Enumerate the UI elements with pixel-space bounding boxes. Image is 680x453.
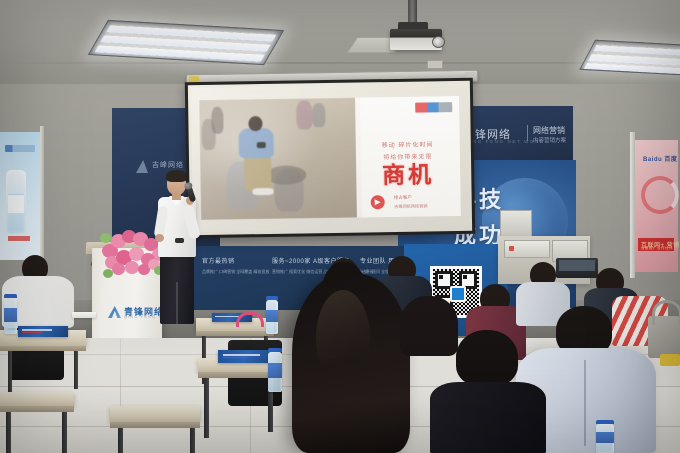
desk: [110, 406, 200, 422]
rollup-right-cta-sub: 百度推广合作伙伴: [641, 246, 673, 251]
water-bottle: [266, 300, 278, 334]
yellow-object: [660, 354, 680, 366]
hair-highlight: [316, 290, 370, 386]
presentation-slide: 移动 碎片化时间 将给你带来无限 商机 抢占客户 吉峰网络网络营销: [199, 96, 460, 220]
headphones-icon: [236, 312, 264, 327]
power-led-icon: [509, 246, 514, 251]
bottle-label: [4, 308, 17, 322]
handbag-strap: [652, 300, 680, 325]
projection-screen: 移动 碎片化时间 将给你带来无限 商机 抢占客户 吉峰网络网络营销: [185, 78, 475, 239]
bottle-cap: [268, 348, 282, 352]
rollup-banner-right: Baidu 百度 互联网+ 营销 百度推广合作伙伴: [634, 140, 678, 272]
slide-logo-icon: [415, 102, 452, 112]
smartphone-icon: [256, 142, 266, 148]
bottle-cap: [4, 294, 17, 298]
folder-accent: [22, 332, 41, 333]
slide-subtitle-line-2: 将给你带来无限: [364, 151, 451, 161]
bottle-label: [596, 432, 614, 443]
rollup-left-header-logo: [5, 145, 35, 152]
desk-leg: [118, 428, 123, 453]
slide-pedestrian: [296, 101, 313, 130]
slide-arrow-icon: [371, 196, 385, 210]
presenter-leg-gap: [176, 282, 178, 324]
handout-paper: [72, 312, 96, 318]
laptop-screen: [559, 260, 595, 271]
desk-leg: [190, 428, 195, 453]
brand-mark-icon: [136, 160, 148, 173]
banner-tagline-secondary: 内容营销方案: [533, 136, 566, 144]
folder-accent: [223, 357, 247, 358]
slide-subtitle-line-1: 移动 碎片化时间: [364, 139, 451, 149]
presenter-left-hand: [155, 234, 164, 242]
slide-cta-primary: 抢占客户: [394, 195, 412, 201]
slide-cta-secondary: 吉峰网络网络营销: [394, 203, 428, 210]
seminar-room-photo: 吉峰网络 营销设计 青锋网络 QING FENG NET WORK 网络营销 内…: [0, 0, 680, 453]
baidu-logo-icon: Baidu 百度: [643, 154, 677, 163]
presentation-clicker-icon: [175, 238, 184, 243]
desk-leg: [74, 351, 78, 389]
shirt-seam: [584, 360, 586, 446]
banner-col-a-heading: 官方最热销: [202, 256, 269, 265]
ring-graphic-icon: [641, 176, 679, 214]
desk-edge: [110, 422, 200, 428]
foreground-person-shoulders: [430, 382, 546, 453]
monitor-icon: [500, 210, 532, 238]
foreground-person-dark: [400, 296, 458, 356]
banner-column-a: 官方最热销 品牌推广 口碑营销 全网覆盖 精准投放: [202, 256, 269, 275]
bottle-cap: [266, 296, 278, 300]
desk: [0, 392, 74, 406]
water-bottle: [596, 424, 614, 453]
rollup-left-pole: [40, 126, 44, 266]
rollup-left-accent-bar: [8, 236, 30, 241]
slide-photo-street-scene: [199, 98, 362, 221]
slide-pedestrian: [201, 119, 216, 150]
training-folder: [18, 326, 68, 337]
banner-col-a-lines: 品牌推广 口碑营销 全网覆盖 精准投放: [202, 269, 269, 275]
water-bottle: [268, 352, 282, 392]
audio-mixer-icon: [504, 240, 550, 258]
rollup-right-pole: [630, 132, 635, 278]
desk-edge: [196, 331, 274, 336]
slide-main-figure-shoes: [252, 188, 273, 196]
ceiling-vent: [427, 60, 443, 69]
desk-leg: [62, 412, 67, 453]
presenter-hair: [166, 170, 187, 182]
banner-divider: [527, 125, 528, 141]
projection-screen-surface: 移动 碎片化时间 将给你带来无限 商机 抢占客户 吉峰网络网络营销: [188, 81, 472, 235]
desk-leg: [6, 412, 11, 453]
laptop-icon: [556, 258, 598, 278]
foreground-person-head: [456, 330, 518, 386]
folder-band: [22, 329, 52, 331]
banner-col-b-heading: 服务~2000家 A级客户服务: [272, 256, 374, 265]
qr-center-logo: [450, 286, 466, 302]
folder-band: [223, 354, 260, 356]
rollup-right-cta-bar: 互联网+ 营销 百度推广合作伙伴: [638, 238, 674, 251]
desk-leg: [204, 378, 209, 438]
slide-pedestrian: [312, 103, 325, 127]
rollup-banner-left: [0, 132, 44, 260]
water-bottle: [4, 298, 17, 334]
bottle-label: [266, 310, 278, 323]
slide-main-figure-legs: [244, 155, 272, 191]
bottle-cap: [596, 420, 614, 424]
desk-leg: [8, 351, 12, 393]
bottle-label-graphic: [8, 194, 24, 213]
projector-lens: [432, 36, 445, 48]
slide-headline: 商机: [356, 163, 460, 188]
ceiling-seam: [0, 62, 680, 64]
slide-pedestrian: [274, 168, 304, 212]
slide-text-panel: 移动 碎片化时间 将给你带来无限 商机 抢占客户 吉峰网络网络营销: [355, 96, 461, 218]
folder-band: [215, 316, 239, 317]
banner-tagline-primary: 网络营销: [533, 125, 565, 136]
bottle-label: [268, 363, 282, 378]
